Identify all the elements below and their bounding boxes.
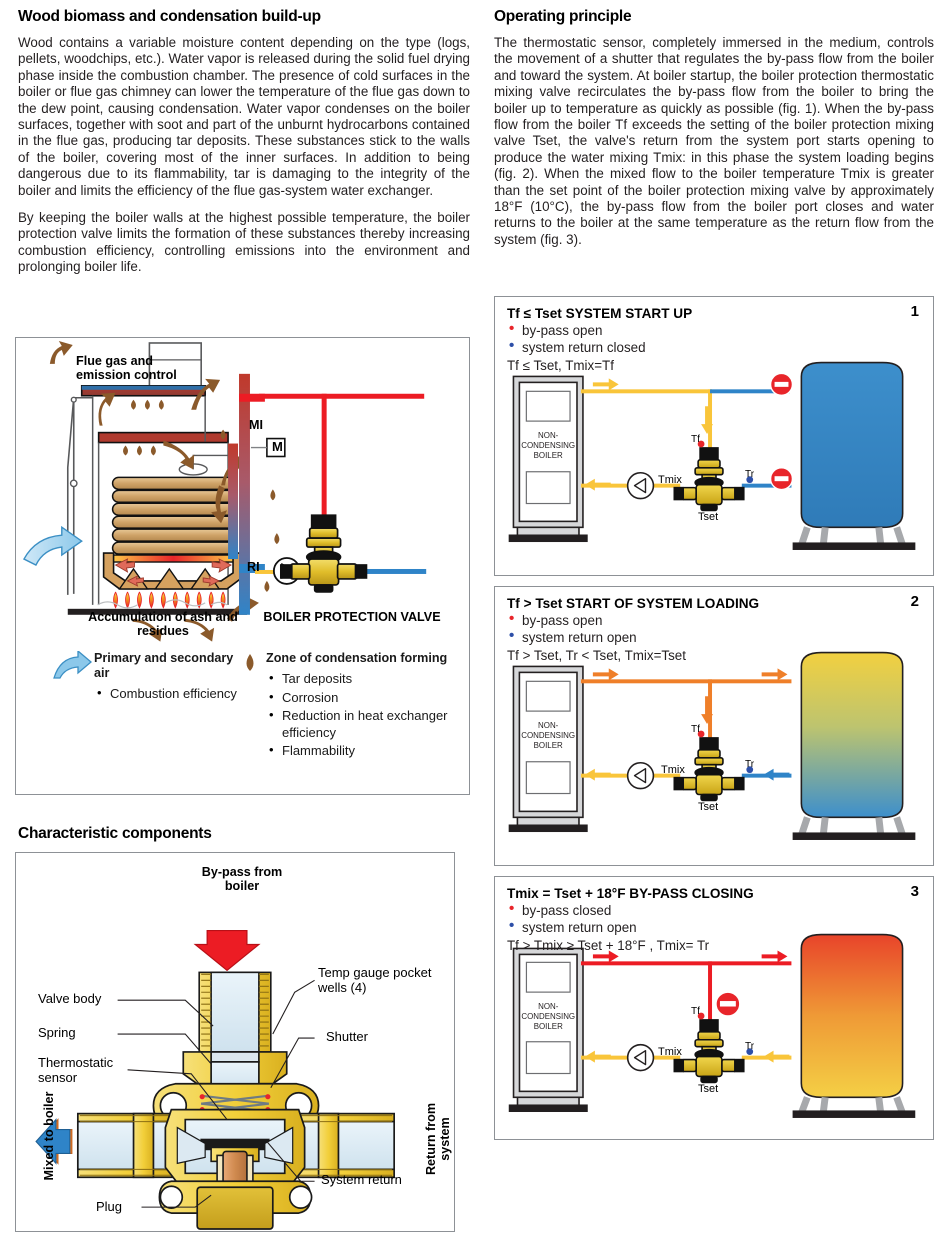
label-port-m: M: [272, 440, 283, 454]
figure-3-label-tr: Tr: [745, 1040, 754, 1054]
callout-shutter: Shutter: [326, 1030, 368, 1044]
legend-primary-secondary-air: Primary and secondary air Combustion eff…: [94, 651, 244, 705]
figure-panel-2: NON- CONDENSING BOILER: [494, 586, 934, 866]
label-port-ri: RI: [247, 560, 260, 574]
figure-3-label-tmix: Tmix: [658, 1045, 682, 1059]
figure-2-label-tf: Tf: [691, 723, 700, 737]
label-boiler-protection-valve: BOILER PROTECTION VALVE: [252, 610, 452, 624]
figure-2-label-tset: Tset: [698, 800, 718, 814]
figure-2-text-block: Tf > Tset START OF SYSTEM LOADING by-pas…: [507, 595, 759, 664]
paragraph-operating-principle: The thermostatic sensor, completely imme…: [494, 35, 934, 248]
figure-2-bullets: by-pass open system return open: [507, 613, 759, 646]
page-title-characteristic-components: Characteristic components: [18, 825, 212, 843]
legend-item: Corrosion: [266, 690, 466, 707]
svg-text:NON-: NON-: [538, 721, 559, 730]
figure-3-label-tf: Tf: [691, 1005, 700, 1019]
figure-2-condition: Tf > Tset, Tr < Tset, Tmix=Tset: [507, 647, 759, 664]
figure-1-condition: Tf ≤ Tset, Tmix=Tf: [507, 357, 692, 374]
paragraph-wood-biomass-1: Wood contains a variable moisture conten…: [18, 35, 470, 199]
figure-2-label-tr: Tr: [745, 758, 754, 772]
legend-title-condensation: Zone of condensation forming: [266, 651, 466, 666]
figure-1-text-block: Tf ≤ Tset SYSTEM START UP by-pass open s…: [507, 305, 692, 374]
figure-1-bullet-return: system return closed: [507, 340, 692, 357]
boiler-schematic-panel: Flue gas and emission control Accumulati…: [15, 337, 470, 795]
legend-list-primary-air: Combustion efficiency: [94, 686, 244, 703]
figure-1-label-tf: Tf: [691, 433, 700, 447]
callout-return-from-system: Return from system: [424, 1091, 452, 1187]
figure-3-bullet-return: system return open: [507, 920, 754, 937]
figure-2-bullet-bypass: by-pass open: [507, 613, 759, 630]
figure-3-bullet-bypass: by-pass closed: [507, 903, 754, 920]
callout-temp-gauge-pocket-wells: Temp gauge pocket wells (4): [318, 965, 438, 995]
figure-2-bullet-return: system return open: [507, 630, 759, 647]
legend-item: Tar deposits: [266, 671, 466, 688]
legend-title-primary-air: Primary and secondary air: [94, 651, 244, 681]
figure-3-text-block: Tmix = Tset + 18°F BY-PASS CLOSING by-pa…: [507, 885, 754, 954]
legend-item: Flammability: [266, 743, 466, 760]
figure-1-title: Tf ≤ Tset SYSTEM START UP: [507, 305, 692, 322]
figure-1-label-tr: Tr: [745, 468, 754, 482]
callout-system-return: System return: [321, 1173, 402, 1187]
legend-list-condensation: Tar deposits Corrosion Reduction in heat…: [266, 671, 466, 760]
legend-zone-of-condensation: Zone of condensation forming Tar deposit…: [266, 651, 466, 762]
svg-text:BOILER: BOILER: [534, 1022, 563, 1031]
figure-panel-3: NON- CONDENSING BOILER: [494, 876, 934, 1140]
valve-cutaway-panel: By-pass from boiler Valve body Spring Th…: [15, 852, 455, 1232]
figure-3-label-tset: Tset: [698, 1082, 718, 1096]
svg-text:BOILER: BOILER: [534, 451, 563, 460]
document-page: Wood biomass and condensation build-up W…: [0, 0, 950, 1240]
callout-plug: Plug: [96, 1200, 122, 1214]
svg-text:NON-: NON-: [538, 1002, 559, 1011]
figure-1-bullet-bypass: by-pass open: [507, 323, 692, 340]
figure-3-bullets: by-pass closed system return open: [507, 903, 754, 936]
page-title-wood-biomass: Wood biomass and condensation build-up: [18, 8, 470, 26]
legend-item: Reduction in heat exchanger efficiency: [266, 708, 466, 741]
figure-1-label-tmix: Tmix: [658, 473, 682, 487]
figure-1-bullets: by-pass open system return closed: [507, 323, 692, 356]
left-text-column: Wood biomass and condensation build-up W…: [18, 8, 470, 287]
svg-text:CONDENSING: CONDENSING: [521, 1012, 575, 1021]
callout-spring: Spring: [38, 1026, 76, 1040]
callout-thermostatic-sensor: Thermostatic sensor: [38, 1055, 116, 1085]
callout-bypass-from-boiler: By-pass from boiler: [192, 865, 292, 894]
page-title-operating-principle: Operating principle: [494, 8, 934, 26]
figure-3-title: Tmix = Tset + 18°F BY-PASS CLOSING: [507, 885, 754, 902]
figure-3-condition: Tf > Tmix ≥ Tset + 18°F , Tmix= Tr: [507, 937, 754, 954]
figure-1-label-tset: Tset: [698, 510, 718, 524]
figure-2-title: Tf > Tset START OF SYSTEM LOADING: [507, 595, 759, 612]
svg-text:CONDENSING: CONDENSING: [521, 441, 575, 450]
legend-item: Combustion efficiency: [94, 686, 244, 703]
svg-text:BOILER: BOILER: [534, 741, 563, 750]
callout-valve-body: Valve body: [38, 992, 101, 1006]
figure-3-number: 3: [911, 883, 919, 900]
figure-2-label-tmix: Tmix: [661, 763, 685, 777]
paragraph-wood-biomass-2: By keeping the boiler walls at the highe…: [18, 210, 470, 276]
callout-mixed-to-boiler: Mixed to boiler: [42, 1091, 56, 1181]
air-arrow-icon: [52, 651, 92, 681]
right-text-column: Operating principle The thermostatic sen…: [494, 8, 934, 259]
label-accumulation-of-ash: Accumulation of ash and residues: [68, 610, 258, 639]
figure-panel-1: NON- CONDENSING BOILER: [494, 296, 934, 576]
svg-text:CONDENSING: CONDENSING: [521, 731, 575, 740]
label-flue-gas-emission-control: Flue gas and emission control: [76, 354, 196, 383]
figure-2-number: 2: [911, 593, 919, 610]
label-port-mi: MI: [249, 418, 263, 432]
droplet-icon: [240, 652, 260, 678]
svg-text:NON-: NON-: [538, 431, 559, 440]
figure-1-number: 1: [911, 303, 919, 320]
